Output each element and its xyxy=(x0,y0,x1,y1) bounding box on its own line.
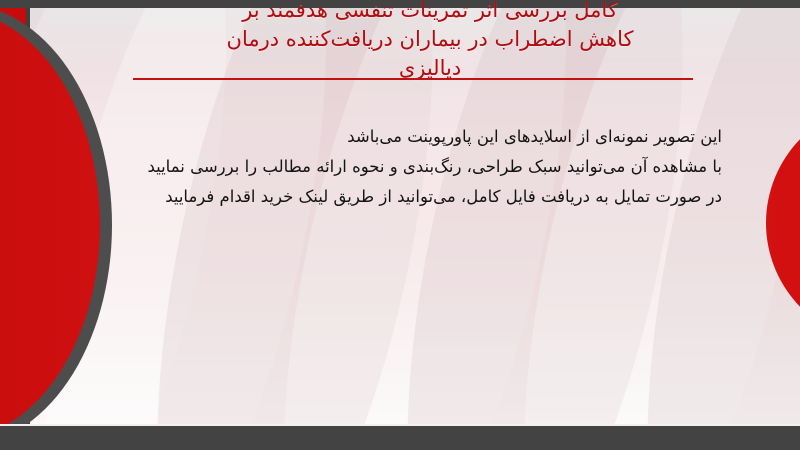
presentation-slide: کامل بررسی اثر تمرینات تنفسی هدفمند بر ک… xyxy=(0,0,800,450)
body-line-3: در صورت تمایل به دریافت فایل کامل، می‌تو… xyxy=(82,182,722,212)
slide-body-text: این تصویر نمونه‌ای از اسلایدهای این پاور… xyxy=(82,122,722,212)
body-line-1: این تصویر نمونه‌ای از اسلایدهای این پاور… xyxy=(82,122,722,152)
slide-title: کامل بررسی اثر تمرینات تنفسی هدفمند بر ک… xyxy=(140,0,720,83)
bottom-frame-highlight xyxy=(0,424,800,426)
slide-title-line-1: کامل بررسی اثر تمرینات تنفسی هدفمند بر xyxy=(140,0,720,25)
title-divider-rule xyxy=(133,78,693,80)
bottom-frame-band xyxy=(0,426,800,450)
slide-title-line-2: کاهش اضطراب در بیماران دریافت‌کننده درما… xyxy=(140,25,720,54)
body-line-2: با مشاهده آن می‌توانید سبک طراحی، رنگ‌بن… xyxy=(82,152,722,182)
